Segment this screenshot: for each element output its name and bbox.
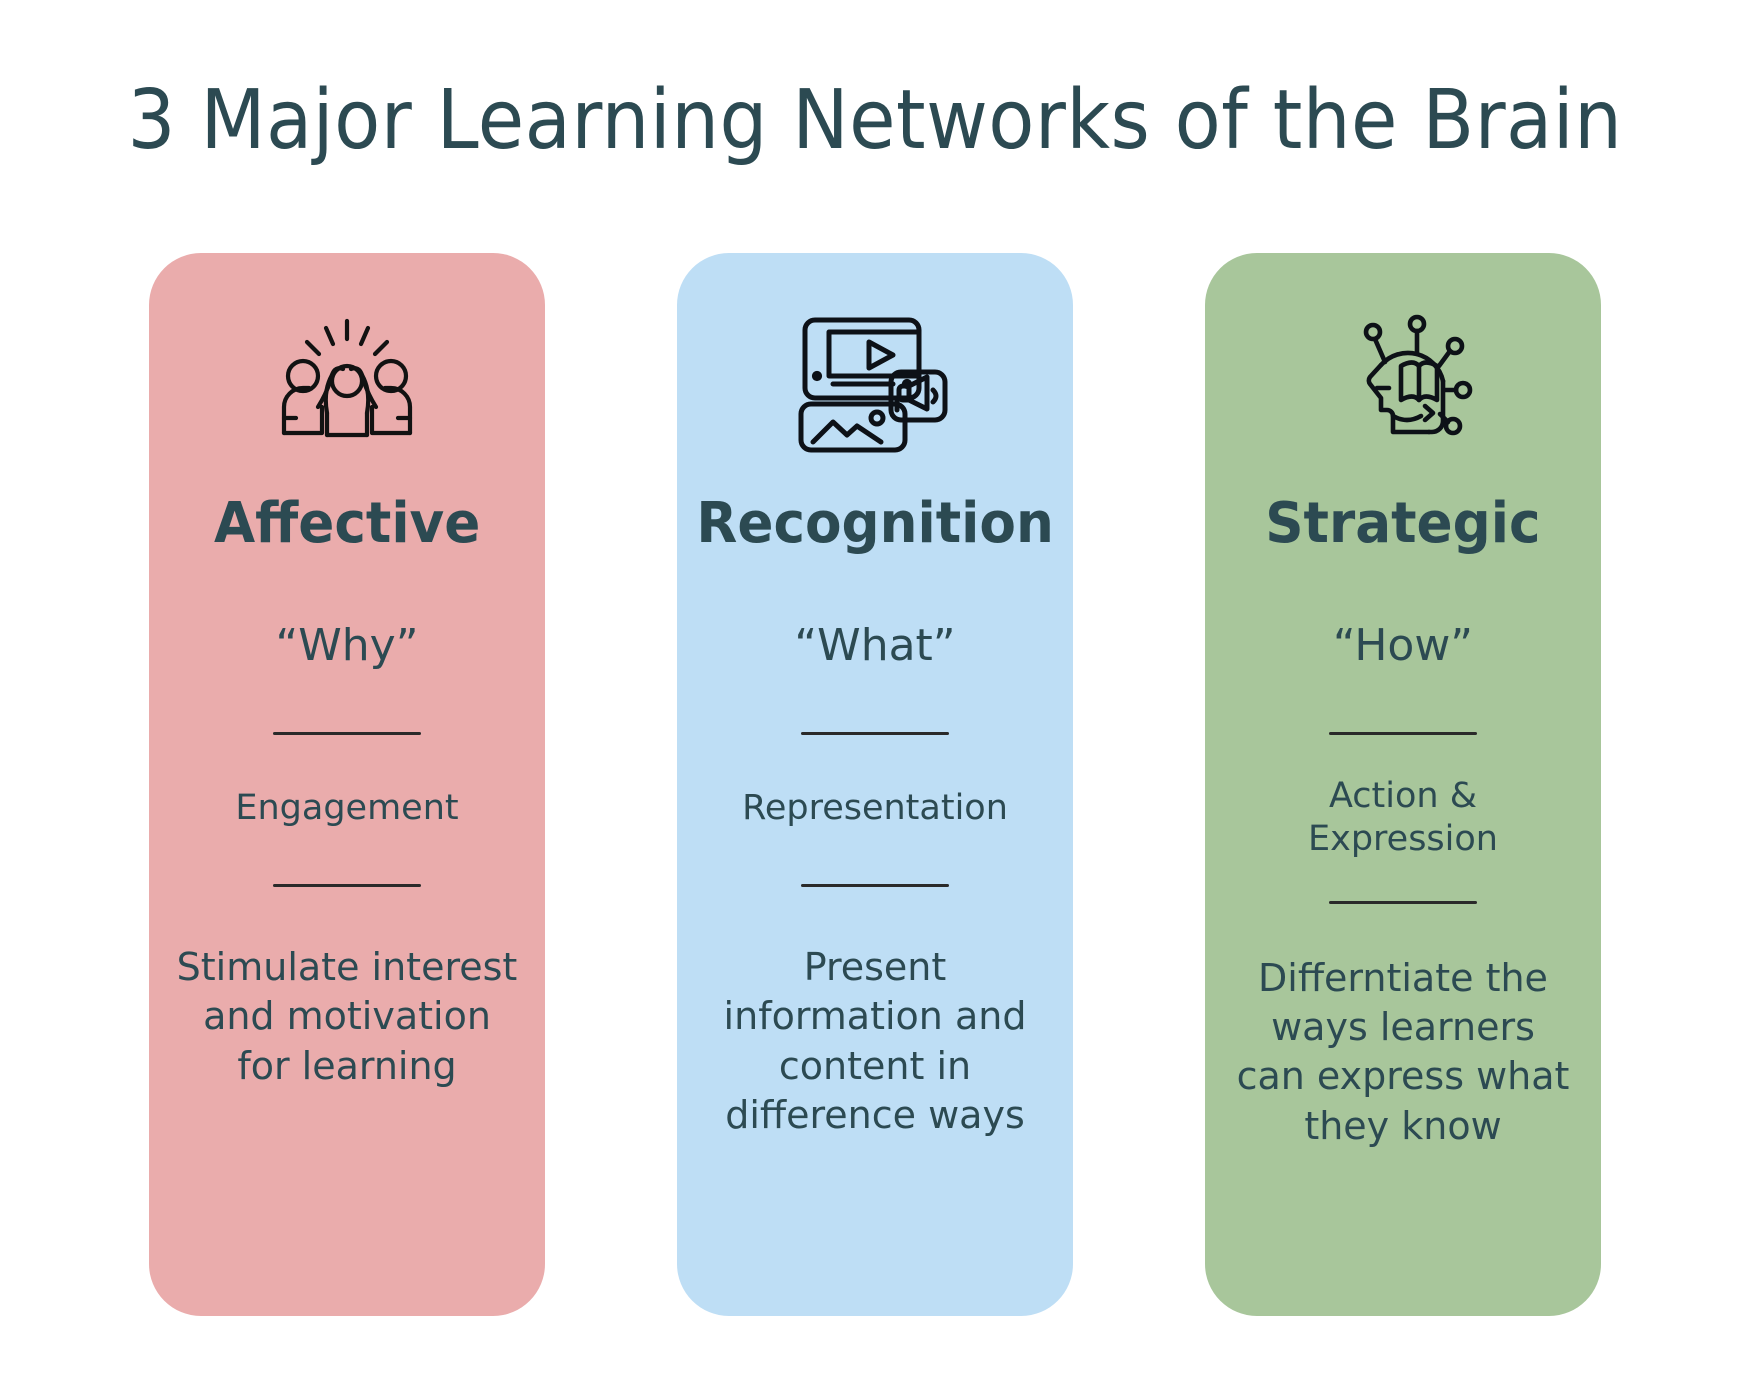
card-principle: Representation <box>742 787 1008 830</box>
card-recognition: Recognition “What” Representation Presen… <box>677 253 1073 1316</box>
divider-top <box>801 732 949 735</box>
card-strategic: Strategic “How” Action & Expression Diff… <box>1205 253 1601 1316</box>
people-celebrating-icon <box>272 291 422 469</box>
card-keyword: “What” <box>794 622 955 670</box>
divider-top <box>273 732 421 735</box>
card-title: Recognition <box>696 495 1053 554</box>
card-row: Affective “Why” Engagement Stimulate int… <box>0 253 1750 1323</box>
card-description: Present information and content in diffe… <box>703 943 1047 1141</box>
card-principle: Action & Expression <box>1238 775 1568 860</box>
card-description: Stimulate interest and motivation for le… <box>175 943 519 1091</box>
card-title: Affective <box>214 495 480 554</box>
card-affective: Affective “Why” Engagement Stimulate int… <box>149 253 545 1316</box>
card-title: Strategic <box>1265 495 1540 554</box>
page-title: 3 Major Learning Networks of the Brain <box>70 78 1680 164</box>
card-keyword: “How” <box>1333 622 1473 670</box>
card-keyword: “Why” <box>275 622 418 670</box>
head-brain-network-icon <box>1333 291 1473 469</box>
divider-bottom <box>801 884 949 887</box>
divider-bottom <box>273 884 421 887</box>
infographic-poster: 3 Major Learning Networks of the Brain <box>0 0 1750 1400</box>
divider-bottom <box>1329 901 1477 904</box>
divider-top <box>1329 732 1477 735</box>
media-content-icon <box>797 291 953 469</box>
card-description: Differntiate the ways learners can expre… <box>1231 954 1575 1152</box>
card-principle: Engagement <box>235 787 458 830</box>
